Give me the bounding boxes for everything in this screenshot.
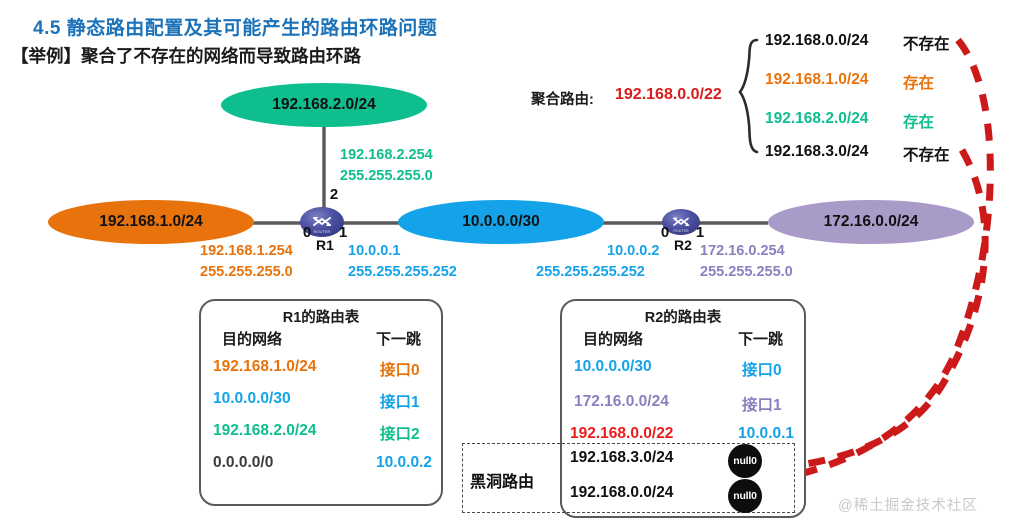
r1-if0-ip: 192.168.1.254 [200, 243, 293, 259]
r2-row-0-nexthop: 接口0 [742, 358, 782, 380]
r2-blackhole-row-1-dest: 192.168.0.0/24 [570, 484, 673, 502]
aggregate-row-1-state: 存在 [903, 71, 934, 93]
svg-text:ROUTER: ROUTER [314, 229, 331, 234]
aggregate-brace [740, 40, 757, 152]
r1-row-3-nexthop: 10.0.0.2 [376, 454, 432, 472]
r1-row-2-dest: 192.168.2.0/24 [213, 422, 316, 440]
r1-row-2-nexthop: 接口2 [380, 422, 420, 444]
r2-row-2-dest: 192.168.0.0/22 [570, 425, 673, 443]
blackhole-route-label: 黑洞路由 [470, 468, 534, 492]
r2-blackhole-row-1-null0-icon: null0 [728, 479, 762, 513]
r1-row-1-nexthop: 接口1 [380, 390, 420, 412]
r2-if1-mask: 255.255.255.0 [700, 264, 793, 280]
aggregate-route-label: 聚合路由: [531, 88, 594, 109]
r2-row-0-dest: 10.0.0.0/30 [574, 358, 652, 376]
network-links [242, 106, 768, 223]
network-label-right: 172.16.0.0/24 [824, 213, 919, 231]
router-r2-label: R2 [674, 237, 692, 253]
page-subtitle: 【举例】聚合了不存在的网络而导致路由环路 [11, 43, 361, 68]
router-r1-if2-number: 2 [330, 186, 338, 203]
r2-col-dest: 目的网络 [583, 328, 643, 349]
r1-row-3-dest: 0.0.0.0/0 [213, 454, 273, 472]
network-label-left: 192.168.1.0/24 [99, 213, 202, 231]
aggregate-row-2-state: 存在 [903, 110, 934, 132]
router-r1-label: R1 [316, 237, 334, 253]
r1-if2-ip: 192.168.2.254 [340, 147, 433, 163]
r2-row-2-nexthop: 10.0.0.1 [738, 425, 794, 443]
r1-if1-ip: 10.0.0.1 [348, 243, 400, 259]
r2-blackhole-row-0-null0-icon: null0 [728, 444, 762, 478]
aggregate-row-0-state: 不存在 [903, 32, 950, 54]
r1-row-1-dest: 10.0.0.0/30 [213, 390, 291, 408]
aggregate-row-2-network: 192.168.2.0/24 [765, 110, 868, 128]
r2-routing-table-title: R2的路由表 [645, 306, 722, 327]
r2-if0-mask: 255.255.255.252 [536, 264, 645, 280]
r2-col-nexthop: 下一跳 [738, 328, 783, 349]
network-label-middle: 10.0.0.0/30 [462, 213, 540, 231]
aggregate-row-3-network: 192.168.3.0/24 [765, 143, 868, 161]
r1-col-nexthop: 下一跳 [376, 328, 421, 349]
r1-if2-mask: 255.255.255.0 [340, 168, 433, 184]
r2-if1-ip: 172.16.0.254 [700, 243, 785, 259]
router-r1-if0-number: 0 [303, 224, 311, 241]
r1-col-dest: 目的网络 [222, 328, 282, 349]
r1-if1-mask: 255.255.255.252 [348, 264, 457, 280]
page-title: 4.5 静态路由配置及其可能产生的路由环路问题 [33, 13, 437, 40]
aggregate-row-1-network: 192.168.1.0/24 [765, 71, 868, 89]
network-label-top: 192.168.2.0/24 [272, 96, 375, 114]
r2-blackhole-row-0-dest: 192.168.3.0/24 [570, 449, 673, 467]
router-r1-if1-number: 1 [339, 224, 347, 241]
r1-row-0-dest: 192.168.1.0/24 [213, 358, 316, 376]
aggregate-route-value: 192.168.0.0/22 [615, 86, 722, 104]
r2-if0-ip: 10.0.0.2 [607, 243, 659, 259]
r1-if0-mask: 255.255.255.0 [200, 264, 293, 280]
aggregate-row-0-network: 192.168.0.0/24 [765, 32, 868, 50]
r1-row-0-nexthop: 接口0 [380, 358, 420, 380]
router-r2-if1-number: 1 [696, 224, 704, 241]
routing-loop-arrows [800, 40, 990, 474]
svg-text:ROUTER: ROUTER [673, 229, 689, 233]
r1-routing-table-title: R1的路由表 [283, 306, 360, 327]
aggregate-row-3-state: 不存在 [903, 143, 950, 165]
router-r2-if0-number: 0 [661, 224, 669, 241]
r2-row-1-nexthop: 接口1 [742, 393, 782, 415]
watermark: @稀土掘金技术社区 [838, 494, 978, 515]
r2-row-1-dest: 172.16.0.0/24 [574, 393, 669, 411]
